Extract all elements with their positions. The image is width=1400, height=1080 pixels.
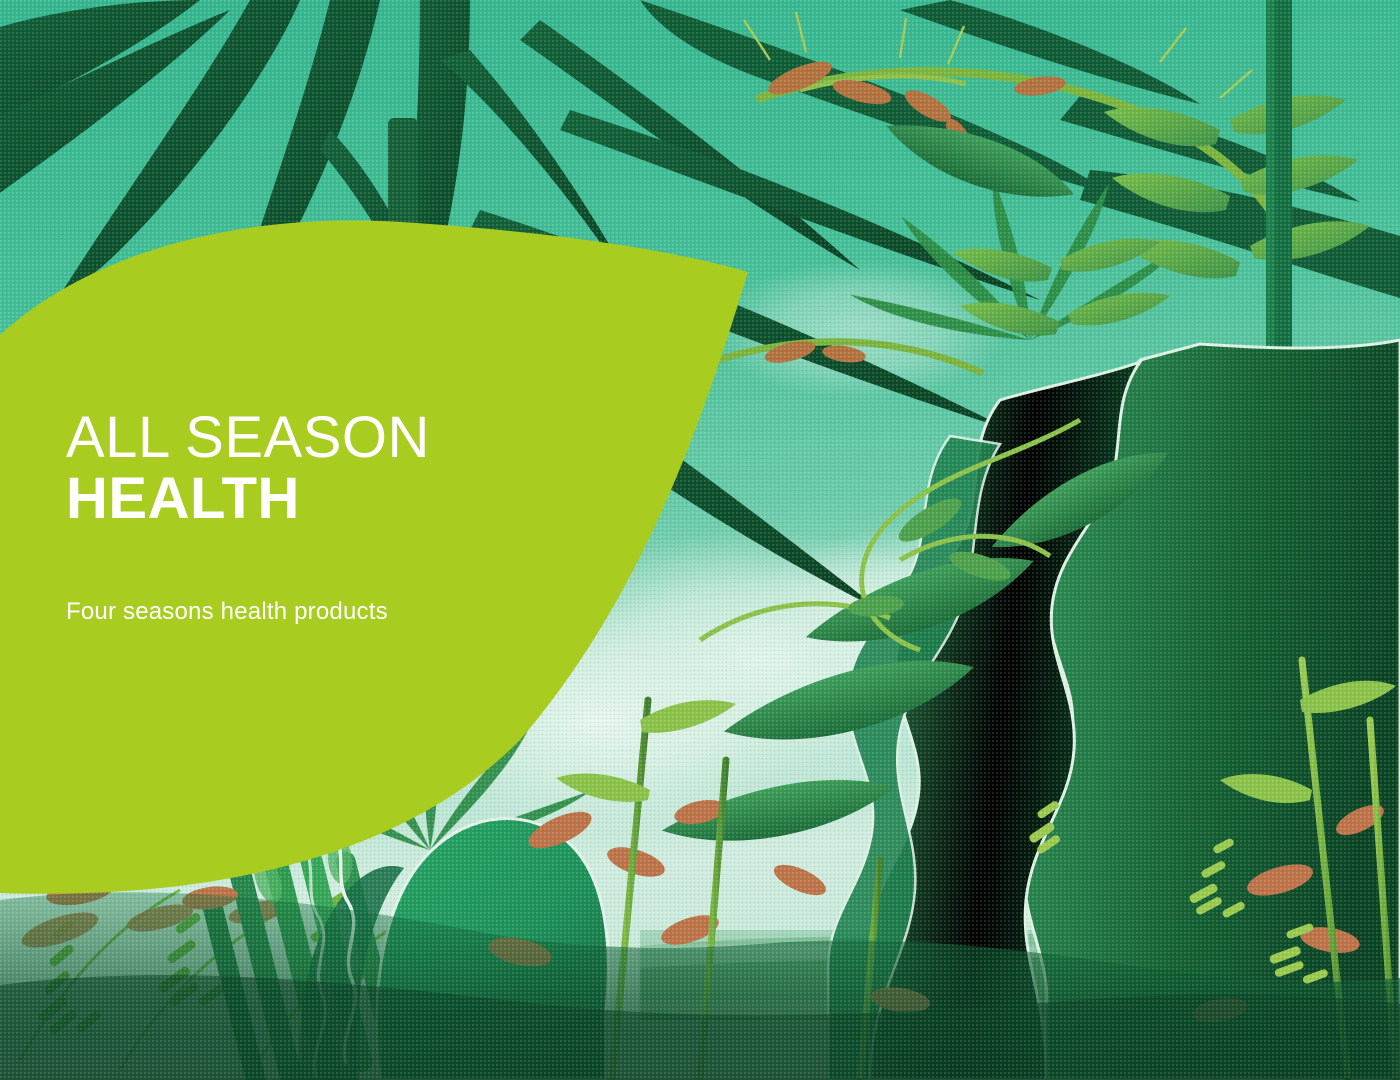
headline-line-2: HEALTH xyxy=(66,467,536,532)
poster-canvas: ALL SEASON HEALTH Four seasons health pr… xyxy=(0,0,1400,1080)
headline-text-block: ALL SEASON HEALTH Four seasons health pr… xyxy=(66,408,536,626)
headline-line-1: ALL SEASON xyxy=(66,408,536,467)
subtitle-text: Four seasons health products xyxy=(66,598,536,626)
